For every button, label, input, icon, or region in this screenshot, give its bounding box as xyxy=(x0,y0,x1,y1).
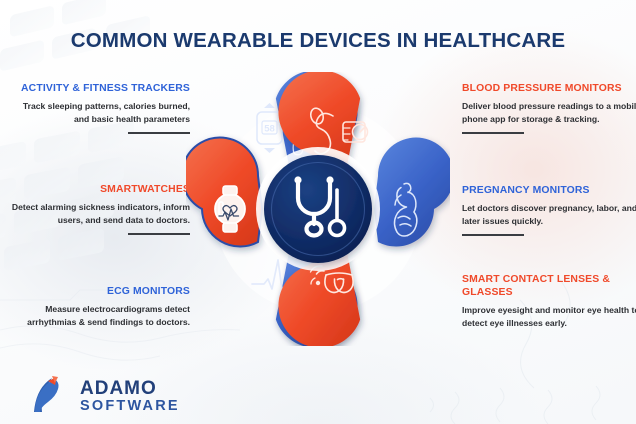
logo-text-software: SOFTWARE xyxy=(80,398,180,414)
logo-mark xyxy=(34,376,61,412)
adamo-software-logo[interactable]: ADAMO SOFTWARE xyxy=(26,372,186,416)
tracker-step-value: 58 xyxy=(264,123,275,134)
info-block-heading: BLOOD PRESSURE MONITORS xyxy=(462,82,636,95)
info-block-smartwatches: SMARTWATCHES Detect alarming sickness in… xyxy=(8,183,190,235)
info-block-heading: PREGNANCY MONITORS xyxy=(462,184,636,197)
petal-pregnancy[interactable] xyxy=(374,138,450,247)
info-block-body: Deliver blood pressure readings to a mob… xyxy=(462,100,636,125)
logo-text-adamo: ADAMO xyxy=(80,378,157,399)
info-block-pregnancy-monitors: PREGNANCY MONITORS Let doctors discover … xyxy=(462,184,636,236)
divider xyxy=(128,233,190,235)
divider xyxy=(128,132,190,134)
info-block-ecg-monitors: ECG MONITORS Measure electrocardiograms … xyxy=(8,285,190,328)
center-hub xyxy=(256,147,380,271)
info-block-smart-glasses: SMART CONTACT LENSES & GLASSES Improve e… xyxy=(462,273,636,329)
info-block-activity-tracker: ACTIVITY & FITNESS TRACKERS Track sleepi… xyxy=(8,82,190,134)
wearable-devices-flower-diagram: 58 xyxy=(186,72,450,346)
info-block-heading: ACTIVITY & FITNESS TRACKERS xyxy=(8,82,190,95)
info-block-heading: ECG MONITORS xyxy=(8,285,190,298)
info-block-body: Track sleeping patterns, calories burned… xyxy=(8,100,190,125)
info-block-body: Detect alarming sickness indicators, inf… xyxy=(8,201,190,226)
info-block-body: Let doctors discover pregnancy, labor, a… xyxy=(462,202,636,227)
divider xyxy=(462,132,524,134)
infographic-canvas: COMMON WEARABLE DEVICES IN HEALTHCARE AC… xyxy=(0,0,636,424)
info-block-body: Improve eyesight and monitor eye health … xyxy=(462,304,636,329)
info-block-body: Measure electrocardiograms detect arrhyt… xyxy=(8,303,190,328)
page-title: COMMON WEARABLE DEVICES IN HEALTHCARE xyxy=(0,29,636,53)
info-block-blood-pressure: BLOOD PRESSURE MONITORS Deliver blood pr… xyxy=(462,82,636,134)
divider xyxy=(462,234,524,236)
info-block-heading: SMARTWATCHES xyxy=(8,183,190,196)
info-block-heading: SMART CONTACT LENSES & GLASSES xyxy=(462,273,636,299)
